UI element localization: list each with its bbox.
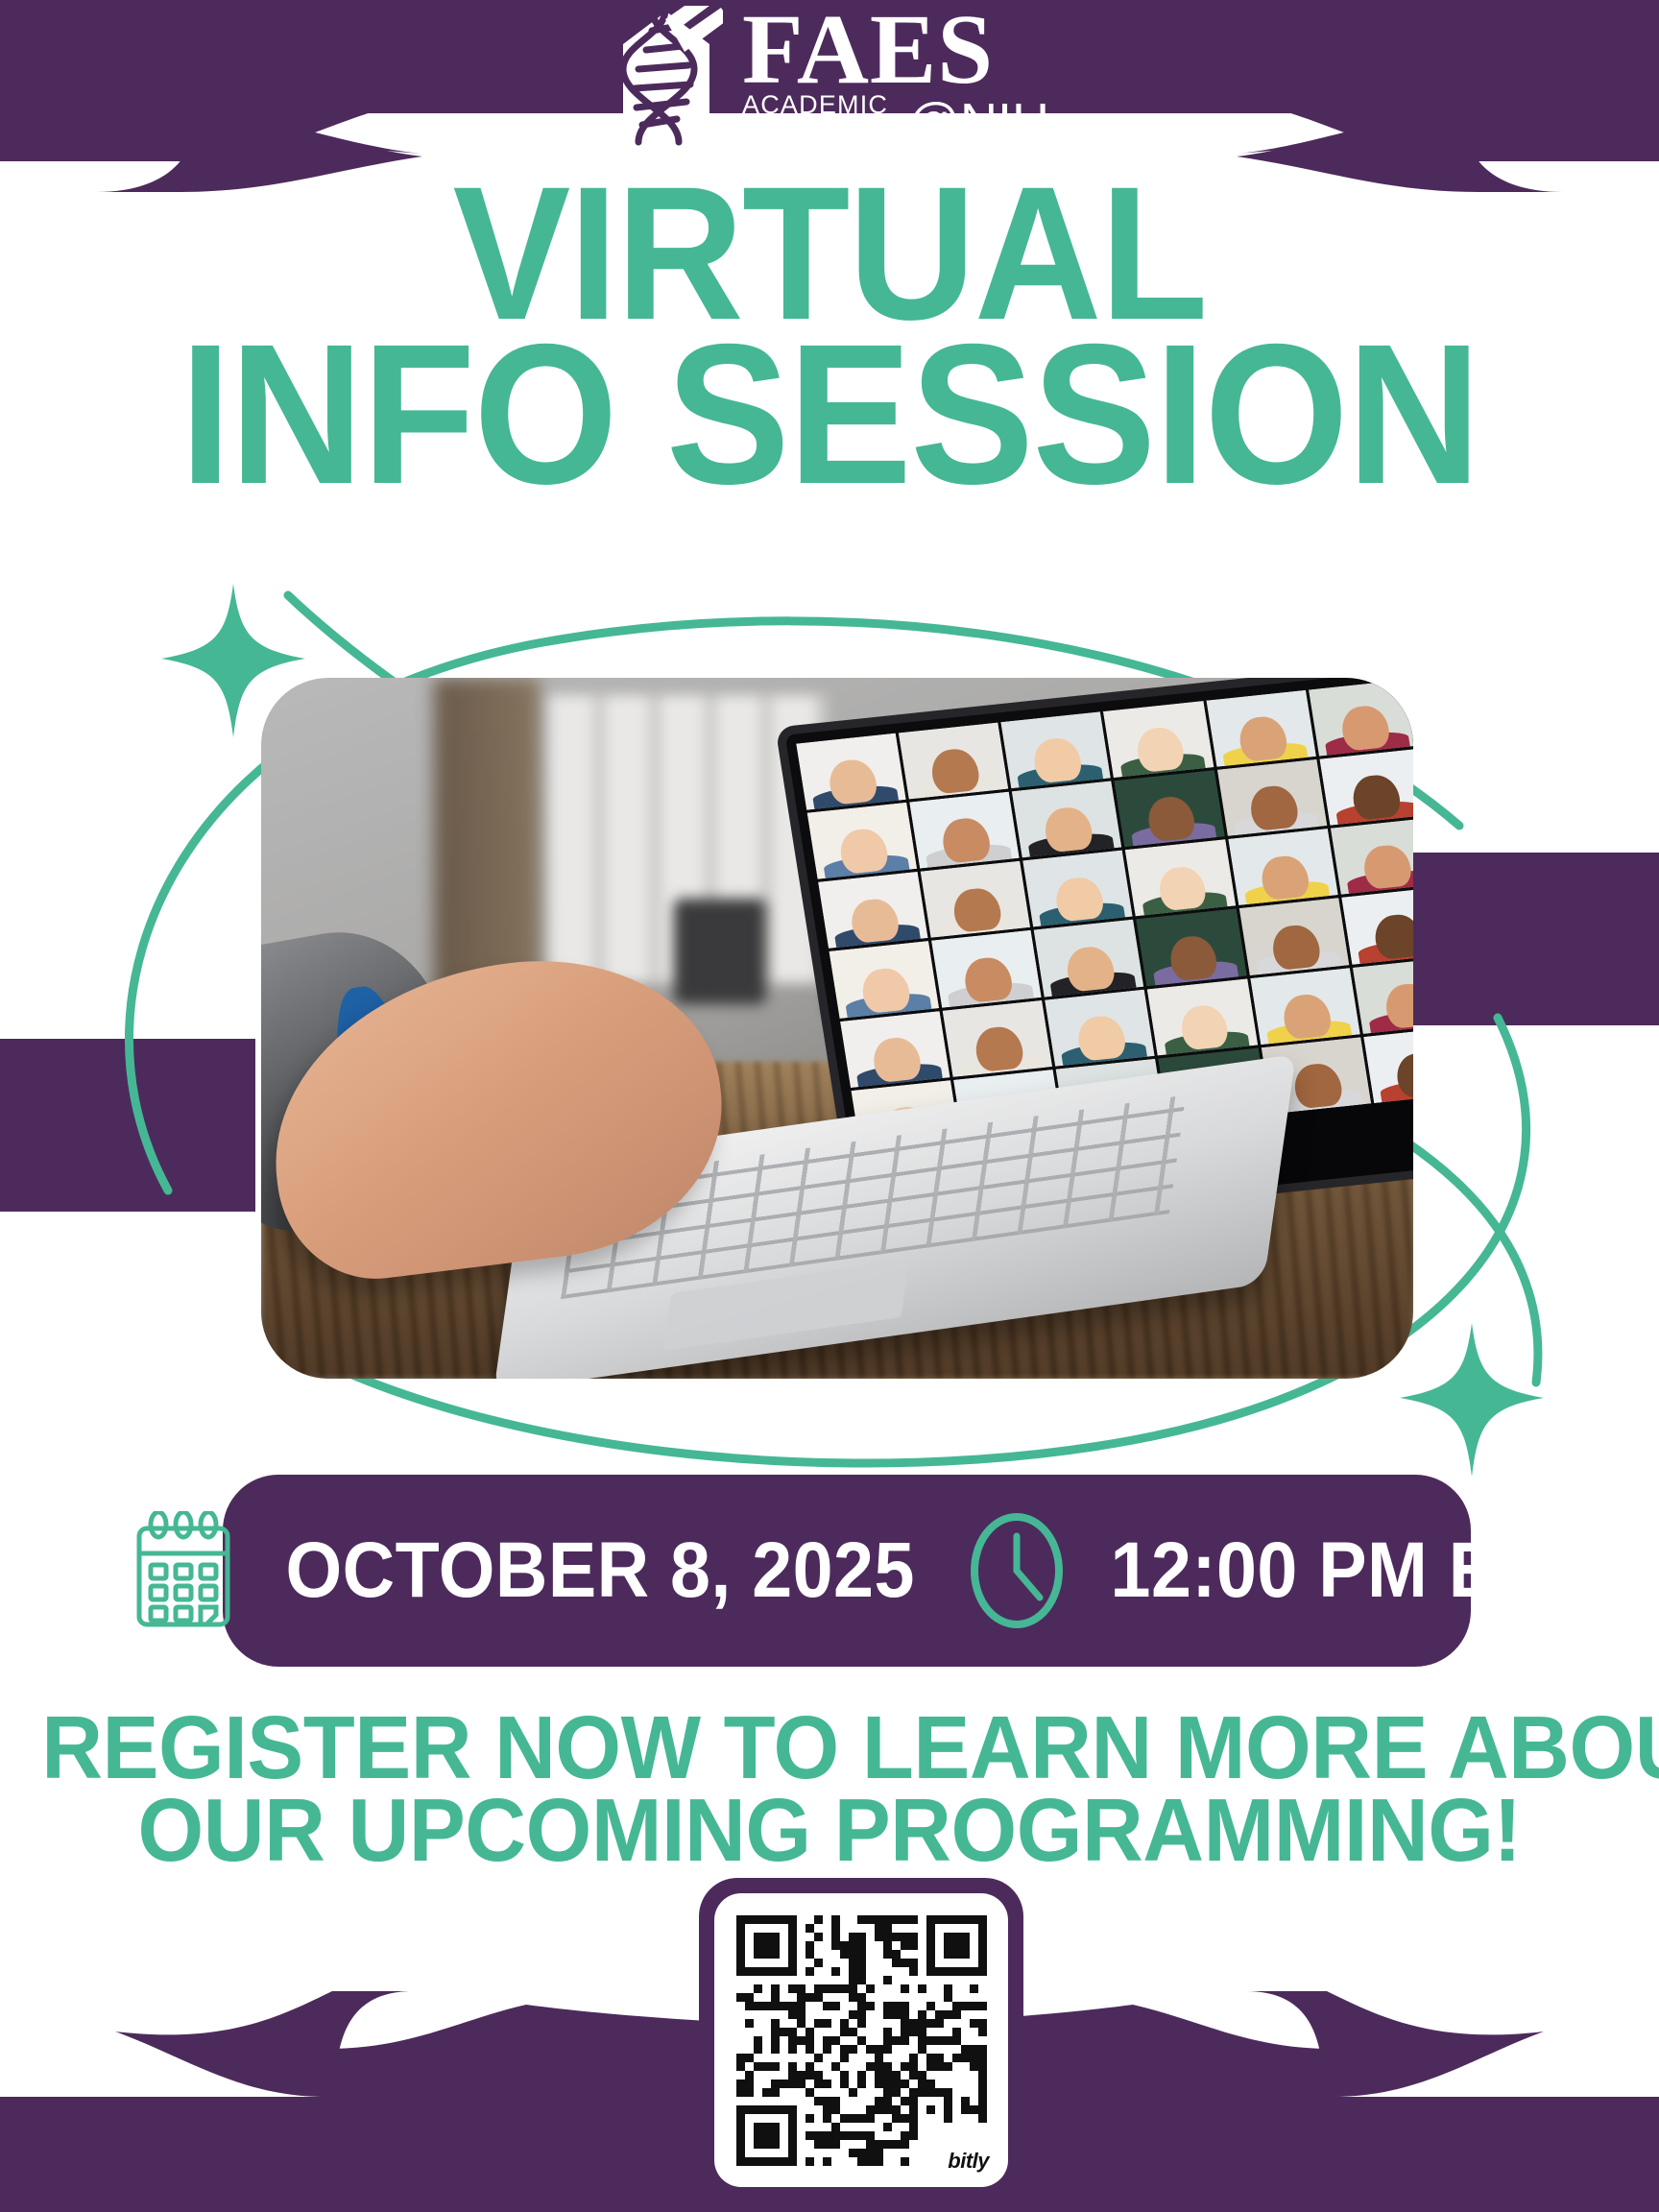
hero-photo (261, 678, 1413, 1379)
video-participant-tile (1023, 851, 1134, 927)
video-participant-tile (818, 872, 928, 949)
logo-subline-1: ACADEMIC (742, 92, 902, 119)
logo-at-nih: @NIH (907, 99, 1049, 146)
video-participant-tile (1001, 711, 1112, 788)
video-participant-tile (1115, 770, 1225, 847)
video-participant-tile (899, 722, 1009, 799)
video-participant-tile (1137, 909, 1247, 986)
headline-line-2: INFO SESSION (58, 332, 1600, 498)
video-participant-tile (1363, 1026, 1413, 1103)
faes-logo: FAES ACADEMIC PROGRAMS @NIH (0, 0, 1659, 154)
video-participant-tile (1331, 818, 1413, 895)
video-participant-tile (1228, 829, 1338, 905)
qr-modules (736, 1915, 987, 2166)
video-participant-tile (1206, 690, 1316, 767)
video-participant-tile (829, 941, 940, 1018)
logo-wordmark: FAES (742, 9, 994, 90)
video-participant-tile (1353, 957, 1413, 1034)
dna-helix-icon (610, 6, 723, 148)
video-participant-tile (1238, 899, 1349, 975)
event-time: 12:00 PM ET (1110, 1526, 1541, 1616)
page-title: VIRTUAL INFO SESSION (0, 175, 1659, 498)
video-participant-tile (1034, 920, 1144, 997)
cta-line-1: REGISTER NOW TO LEARN MORE ABOUT (41, 1707, 1618, 1790)
qr-code-icon[interactable]: bitly (714, 1893, 1008, 2187)
video-participant-tile (931, 930, 1042, 1007)
datetime-bar: OCTOBER 8, 2025 12:00 PM ET (223, 1475, 1471, 1667)
event-date: OCTOBER 8, 2025 (285, 1526, 914, 1616)
video-participant-tile (807, 803, 918, 879)
video-participant-tile (1309, 680, 1413, 757)
video-participant-tile (1341, 887, 1413, 964)
right-accent-bar (1407, 853, 1659, 1025)
cta-line-2: OUR UPCOMING PROGRAMMING! (41, 1790, 1618, 1872)
video-participant-tile (909, 792, 1020, 869)
sparkle-star-icon (1400, 1323, 1544, 1477)
video-participant-tile (1045, 989, 1155, 1066)
video-participant-tile (921, 861, 1031, 938)
qr-code-container[interactable]: bitly (699, 1878, 1023, 2202)
video-participant-tile (943, 1000, 1053, 1077)
video-participant-tile (1012, 781, 1122, 857)
video-participant-tile (840, 1011, 950, 1088)
video-participant-tile (1125, 840, 1236, 917)
qr-brand-label: bitly (948, 2149, 989, 2174)
video-participant-tile (1103, 701, 1214, 778)
video-participant-tile (1250, 968, 1360, 1045)
video-participant-tile (1147, 978, 1258, 1055)
left-accent-bar (0, 1039, 255, 1212)
poster: FAES ACADEMIC PROGRAMS @NIH VIRTUAL INFO… (0, 0, 1659, 2212)
call-to-action: REGISTER NOW TO LEARN MORE ABOUT OUR UPC… (0, 1707, 1659, 1871)
video-participant-tile (796, 733, 906, 810)
video-participant-tile (1217, 759, 1328, 836)
logo-subline-2: PROGRAMS (742, 119, 902, 146)
calendar-icon (133, 1511, 233, 1630)
video-participant-tile (1319, 749, 1413, 826)
clock-icon (967, 1511, 1067, 1630)
